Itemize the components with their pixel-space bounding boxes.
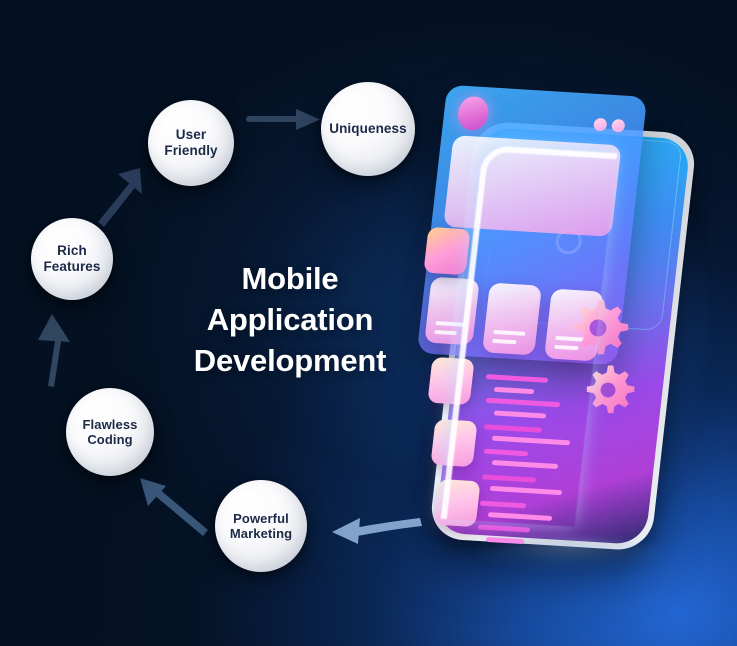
illustration-canvas: User Friendly Uniqueness Rich Features F… xyxy=(0,0,737,646)
vignette-overlay xyxy=(0,0,737,646)
